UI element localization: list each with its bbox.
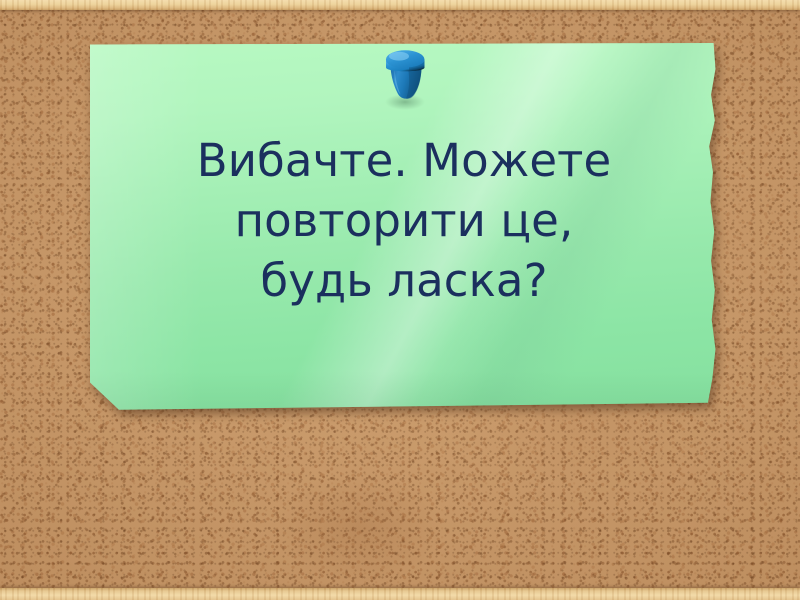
pushpin-icon[interactable] (376, 43, 438, 113)
wooden-frame-bottom (0, 588, 800, 600)
note-message-line-3: будь ласка? (90, 251, 718, 311)
note-message-line-2: повторити це, (90, 191, 718, 251)
wooden-frame-top (0, 0, 800, 10)
pushpin-cap-gloss (389, 52, 409, 61)
note-message-line-1: Вибачте. Можете (90, 131, 718, 191)
wood-grain-texture-bottom (0, 588, 800, 600)
wood-grain-texture-top (0, 0, 800, 10)
note-message: Вибачте. Можете повторити це, будь ласка… (90, 131, 718, 311)
